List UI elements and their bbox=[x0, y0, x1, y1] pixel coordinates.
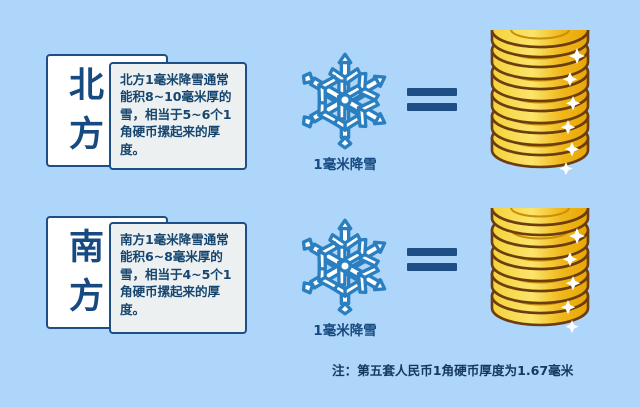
footnote-text: 注：第五套人民币1角硬币厚度为1.67毫米 bbox=[332, 360, 573, 379]
equals-bar-bottom bbox=[407, 103, 457, 111]
description-panel-south: 南方1毫米降雪通常能积6~8毫米厚的雪，相当于4~5个1角硬币摞起来的厚度。 bbox=[109, 222, 247, 334]
description-text-south: 南方1毫米降雪通常能积6~8毫米厚的雪，相当于4~5个1角硬币摞起来的厚度。 bbox=[120, 231, 237, 318]
equals-bar-bottom bbox=[407, 263, 457, 271]
equals-bar-top bbox=[407, 248, 457, 256]
equals-sign-south bbox=[407, 248, 457, 278]
equals-bar-top bbox=[407, 88, 457, 96]
coin-stack-north bbox=[480, 30, 600, 194]
snowflake-group-north: 1毫米降雪 bbox=[288, 48, 402, 173]
comparison-row-north: 北方 北方1毫米降雪通常能积8~10毫米厚的雪，相当于5~6个1角硬币摞起来的厚… bbox=[0, 38, 640, 188]
coin-stack-icon bbox=[480, 208, 600, 348]
snowflake-group-south: 1毫米降雪 bbox=[288, 214, 402, 339]
description-panel-north: 北方1毫米降雪通常能积8~10毫米厚的雪，相当于5~6个1角硬币摞起来的厚度。 bbox=[109, 62, 247, 170]
snowflake-caption-south: 1毫米降雪 bbox=[288, 319, 402, 339]
snowflake-icon bbox=[293, 48, 397, 152]
coin-stack-south bbox=[480, 208, 600, 352]
infographic-canvas: 北方 北方1毫米降雪通常能积8~10毫米厚的雪，相当于5~6个1角硬币摞起来的厚… bbox=[0, 0, 640, 407]
comparison-row-south: 南方 南方1毫米降雪通常能积6~8毫米厚的雪，相当于4~5个1角硬币摞起来的厚度… bbox=[0, 200, 640, 350]
snowflake-icon bbox=[293, 214, 397, 318]
equals-sign-north bbox=[407, 88, 457, 118]
coin-stack-icon bbox=[480, 30, 600, 190]
snowflake-caption-north: 1毫米降雪 bbox=[288, 153, 402, 173]
description-text-north: 北方1毫米降雪通常能积8~10毫米厚的雪，相当于5~6个1角硬币摞起来的厚度。 bbox=[120, 71, 237, 158]
